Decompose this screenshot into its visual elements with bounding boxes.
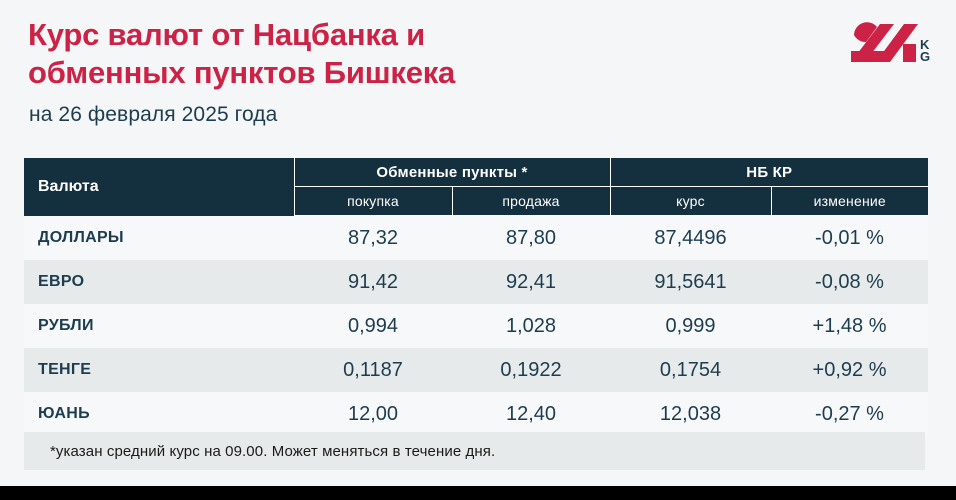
24-kg-logo: K G: [846, 18, 942, 72]
rates-table-container: Валюта Обменные пункты * НБ КР покупка п…: [24, 158, 928, 436]
footnote-band: *указан средний курс на 09.00. Может мен…: [24, 432, 925, 470]
cell-buy: 12,00: [294, 392, 452, 436]
cell-change: -0,01 %: [771, 216, 928, 261]
cell-sell: 92,41: [452, 260, 610, 304]
table-row: ЮАНЬ 12,00 12,40 12,038 -0,27 %: [24, 392, 928, 436]
page-title-line-1: Курс валют от Нацбанка и: [28, 16, 668, 54]
svg-text:G: G: [920, 49, 930, 64]
column-group-header-nbkr: НБ КР: [610, 158, 928, 187]
column-header-rate: курс: [610, 187, 771, 216]
cell-change: -0,08 %: [771, 260, 928, 304]
page-title-line-2: обменных пунктов Бишкека: [28, 54, 668, 92]
cell-sell: 12,40: [452, 392, 610, 436]
table-row: ТЕНГЕ 0,1187 0,1922 0,1754 +0,92 %: [24, 348, 928, 392]
cell-rate: 12,038: [610, 392, 771, 436]
cell-currency: ТЕНГЕ: [24, 348, 294, 392]
cell-currency: РУБЛИ: [24, 304, 294, 348]
page-subtitle: на 26 февраля 2025 года: [29, 103, 277, 127]
page-title: Курс валют от Нацбанка и обменных пункто…: [28, 16, 668, 92]
bottom-bar: [0, 486, 956, 500]
cell-rate: 0,999: [610, 304, 771, 348]
table-row: ЕВРО 91,42 92,41 91,5641 -0,08 %: [24, 260, 928, 304]
cell-rate: 91,5641: [610, 260, 771, 304]
cell-sell: 1,028: [452, 304, 610, 348]
table-row: ДОЛЛАРЫ 87,32 87,80 87,4496 -0,01 %: [24, 216, 928, 261]
column-header-buy: покупка: [294, 187, 452, 216]
table-header: Валюта Обменные пункты * НБ КР покупка п…: [24, 158, 928, 216]
cell-buy: 87,32: [294, 216, 452, 261]
logo-icon: K G: [846, 18, 942, 72]
page-header: Курс валют от Нацбанка и обменных пункто…: [0, 0, 956, 150]
footnote-text: *указан средний курс на 09.00. Может мен…: [24, 443, 495, 460]
cell-change: +1,48 %: [771, 304, 928, 348]
cell-currency: ЮАНЬ: [24, 392, 294, 436]
cell-rate: 0,1754: [610, 348, 771, 392]
table-body: ДОЛЛАРЫ 87,32 87,80 87,4496 -0,01 % ЕВРО…: [24, 216, 928, 437]
column-header-sell: продажа: [452, 187, 610, 216]
cell-sell: 0,1922: [452, 348, 610, 392]
column-group-header-exchange-offices: Обменные пункты *: [294, 158, 610, 187]
cell-buy: 0,994: [294, 304, 452, 348]
cell-currency: ДОЛЛАРЫ: [24, 216, 294, 261]
cell-buy: 0,1187: [294, 348, 452, 392]
cell-change: -0,27 %: [771, 392, 928, 436]
currency-rates-table: Валюта Обменные пункты * НБ КР покупка п…: [24, 158, 928, 436]
cell-currency: ЕВРО: [24, 260, 294, 304]
cell-change: +0,92 %: [771, 348, 928, 392]
cell-rate: 87,4496: [610, 216, 771, 261]
table-header-row-groups: Валюта Обменные пункты * НБ КР: [24, 158, 928, 187]
cell-sell: 87,80: [452, 216, 610, 261]
column-header-change: изменение: [771, 187, 928, 216]
column-header-currency: Валюта: [24, 158, 294, 216]
cell-buy: 91,42: [294, 260, 452, 304]
table-row: РУБЛИ 0,994 1,028 0,999 +1,48 %: [24, 304, 928, 348]
